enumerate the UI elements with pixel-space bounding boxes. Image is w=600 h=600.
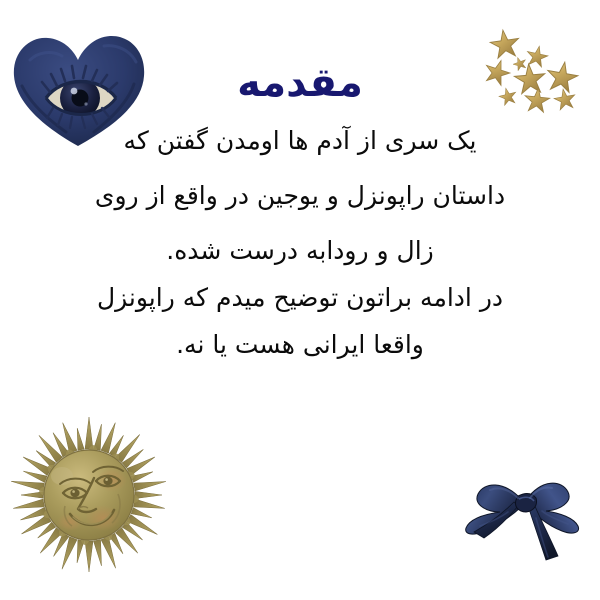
poster-canvas: مقدمه یک سری از آدم ها اومدن گفتن که داس… — [0, 0, 600, 600]
body-line-3: زال و رودابه درست شده. — [60, 238, 540, 263]
body-line-2: داستان راپونزل و یوجین در واقع از روی — [60, 183, 540, 208]
ribbon-bow-icon — [456, 456, 592, 568]
body-paragraph: یک سری از آدم ها اومدن گفتن که داستان را… — [60, 128, 540, 357]
sun-face-icon — [8, 414, 170, 576]
body-line-1: یک سری از آدم ها اومدن گفتن که — [60, 128, 540, 153]
page-title: مقدمه — [0, 62, 600, 104]
body-line-5: واقعا ایرانی هست یا نه. — [60, 332, 540, 357]
body-line-4: در ادامه براتون توضیح میدم که راپونزل — [60, 285, 540, 310]
